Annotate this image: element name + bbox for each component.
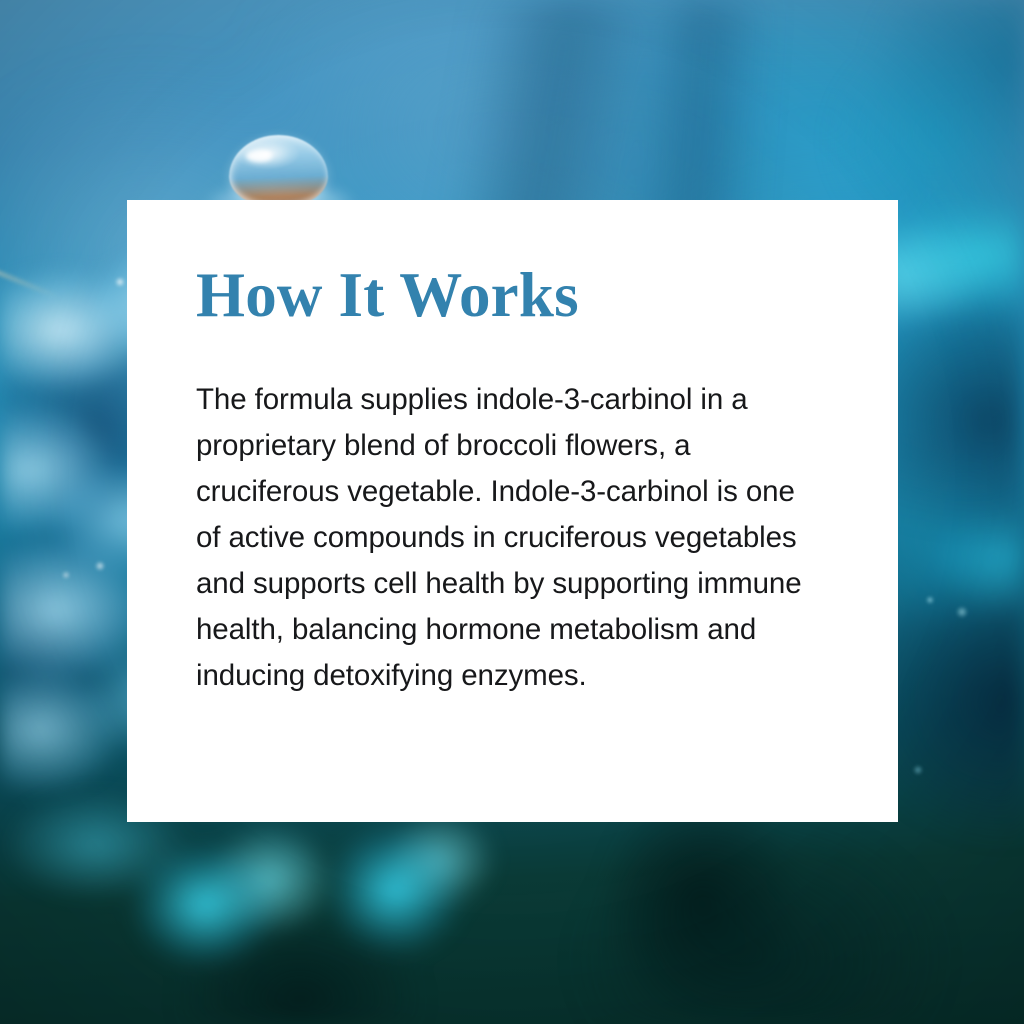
info-card: How It Works The formula supplies indole… [127,200,898,822]
marketing-card-image: How It Works The formula supplies indole… [0,0,1024,1024]
card-body-text: The formula supplies indole-3-carbinol i… [196,377,816,699]
card-heading: How It Works [196,262,828,329]
